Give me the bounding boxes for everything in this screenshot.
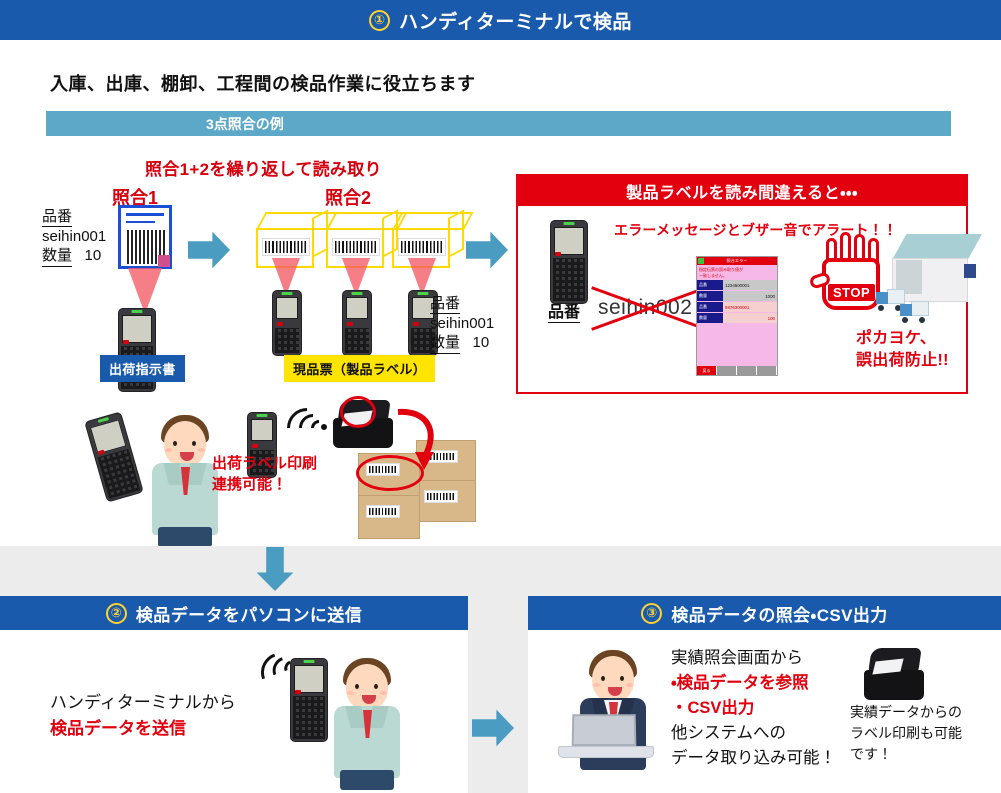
error-hinban-label: 品番 <box>548 298 580 323</box>
section3-text-line3: ・CSV出力 <box>671 696 836 721</box>
person-eye <box>620 676 624 681</box>
error-screen-message-line2: 一致しません。 <box>699 273 775 279</box>
chip-product-label: 現品票（製品ラベル） <box>284 355 435 382</box>
person-cheek <box>593 683 600 687</box>
section3-panel: ③ 検品データの照会・CSV出力 実績照会画面から ・検品データを参照 ・CSV… <box>528 596 1001 793</box>
laptop-screen <box>572 714 637 746</box>
section3-note-line3: です！ <box>850 744 962 765</box>
spec-left-hinban-label: 品番 <box>42 207 72 227</box>
spec-left: 品番 seihin001 数量 10 <box>42 207 106 267</box>
red-arrow-icon <box>390 408 446 480</box>
error-row-value: 9876300001 <box>723 302 777 312</box>
doc-line <box>126 221 155 224</box>
truck-cab <box>900 304 912 316</box>
error-row-label: 数量 <box>697 291 723 301</box>
lead-text: 入庫、出庫、棚卸、工程間の検品作業に役立ちます <box>50 70 476 96</box>
person-cheek <box>626 683 633 687</box>
step-number-1: ① <box>369 10 390 31</box>
person-eye <box>173 441 177 446</box>
person-cheek <box>380 691 387 695</box>
box-side <box>448 209 464 258</box>
section3-text-line4: 他システムへの <box>671 721 836 746</box>
error-screen-message: 指定伝票の読み取り値が 一致しません。 <box>697 265 777 279</box>
person-eye <box>374 684 378 689</box>
spec-right-hinban-value: seihin001 <box>430 314 494 333</box>
poka-yoke-caption: ポカヨケ、 誤出荷防止!! <box>856 328 949 371</box>
wireless-signal-icon <box>283 405 329 445</box>
truck-wheel <box>902 317 908 323</box>
device-screen <box>251 419 273 441</box>
section3-text: 実績照会画面から ・検品データを参照 ・CSV出力 他システムへの データ取り込… <box>671 646 836 771</box>
spec-right: 品番 seihin001 数量 10 <box>430 294 494 354</box>
barcode-icon <box>398 238 446 256</box>
section3-text-line5: データ取り込み可能！ <box>671 746 836 771</box>
error-screen-title: 照合エラー <box>697 257 777 265</box>
office-worker-illustration <box>568 640 658 780</box>
poka-line1: ポカヨケ、 <box>856 328 949 350</box>
person-cheek <box>165 448 172 452</box>
warehouse-icon <box>870 234 982 318</box>
truck-wheel <box>878 305 884 311</box>
person-cheek <box>347 691 354 695</box>
device-led-icon <box>257 414 268 417</box>
error-row-label: 品番 <box>697 280 723 290</box>
laptop-base <box>558 746 654 758</box>
person-pants <box>340 770 394 790</box>
error-row-value: 100 <box>723 313 777 323</box>
barcode-icon <box>332 238 380 256</box>
error-screen-fn-slot <box>737 366 757 375</box>
error-screen-fn-slot <box>757 366 777 375</box>
error-screen-row: 品番 1234500001 <box>697 280 777 290</box>
section3-text-line2: ・検品データを参照 <box>671 671 836 696</box>
error-row-label: 品番 <box>697 302 723 312</box>
error-panel: 製品ラベルを読み間違えると・・・ エラーメッセージとブザー音でアラート！！ 品番… <box>516 174 968 394</box>
section2-title: 検品データをパソコンに送信 <box>136 601 362 626</box>
section2-text-line1: ハンディターミナルから <box>50 690 236 716</box>
wifi-dot <box>321 424 327 430</box>
carton <box>416 480 476 522</box>
handy-terminal-device <box>84 411 144 502</box>
error-screen-fn-slot <box>717 366 737 375</box>
section2-text-line2: 検品データを送信 <box>50 716 236 742</box>
error-panel-title: 製品ラベルを読み間違えると・・・ <box>518 176 966 206</box>
match2-label: 照合2 <box>325 184 371 210</box>
error-screen-row: 数量 1000 <box>697 291 777 301</box>
person-cheek <box>198 448 205 452</box>
person-eye <box>192 441 196 446</box>
section2-text: ハンディターミナルから 検品データを送信 <box>50 690 236 743</box>
label-print-caption: 出荷ラベル印刷 連携可能！ <box>212 453 317 495</box>
section1-title: ハンディターミナルで検品 <box>399 7 632 34</box>
device-led-icon <box>352 292 363 295</box>
error-screen-footer: 戻る <box>697 366 777 375</box>
step-number-3: ③ <box>641 603 662 624</box>
section3-text-line1: 実績照会画面から <box>671 646 836 671</box>
stop-label: STOP <box>828 284 875 301</box>
label-print-caption-line2: 連携可能！ <box>212 474 317 495</box>
section3-note-line2: ラベル印刷も可能 <box>850 723 962 744</box>
person-eye <box>355 684 359 689</box>
error-row-value: 1000 <box>723 291 777 301</box>
device-red-button-icon <box>252 444 258 448</box>
warehouse-roof <box>892 234 982 260</box>
error-screen-row: 品番 9876300001 <box>697 302 777 312</box>
device-screen <box>294 665 324 693</box>
device-keypad <box>553 258 585 301</box>
device-screen <box>346 297 368 319</box>
arrow-right-icon <box>466 230 508 270</box>
device-screen <box>554 227 584 255</box>
device-red-button-icon <box>555 252 561 256</box>
shipping-order-document <box>118 205 172 269</box>
device-red-button-icon <box>347 322 353 326</box>
device-keypad <box>293 696 325 739</box>
subtitle-bar-label: 3点照合の例 <box>206 114 284 134</box>
warehouse-window <box>964 264 976 278</box>
section3-note: 実績データからの ラベル印刷も可能 です！ <box>850 702 962 765</box>
chip-shipping-order: 出荷指示書 <box>100 355 185 382</box>
worker-illustration <box>322 648 412 788</box>
device-keypad <box>345 328 369 353</box>
handy-terminal-device <box>272 290 302 356</box>
spec-left-suryo-value: 10 <box>85 247 102 264</box>
carton <box>358 495 420 539</box>
device-keypad <box>275 328 299 353</box>
barcode-icon <box>262 238 310 256</box>
doc-line <box>126 213 164 216</box>
section3-title: 検品データの照会・CSV出力 <box>671 601 887 626</box>
error-hinban-label-text: 品番 <box>548 298 580 323</box>
section3-header: ③ 検品データの照会・CSV出力 <box>528 596 1001 630</box>
truck-cab <box>876 292 888 304</box>
device-led-icon <box>304 660 315 663</box>
device-red-button-icon <box>413 322 419 326</box>
error-row-label: 数量 <box>697 313 723 323</box>
section2-header: ② 検品データをパソコンに送信 <box>0 596 468 630</box>
highlight-ellipse <box>340 396 376 428</box>
device-red-button-icon <box>277 322 283 326</box>
section3-note-line1: 実績データからの <box>850 702 962 723</box>
cross-out-icon <box>588 284 710 330</box>
spec-right-hinban-label: 品番 <box>430 294 460 314</box>
handy-terminal-device <box>550 220 588 304</box>
printer-base <box>864 670 924 700</box>
arrow-right-icon <box>188 230 230 270</box>
truck-wheel <box>919 317 925 323</box>
error-screen-back-button[interactable]: 戻る <box>697 366 717 375</box>
label-print-caption-line1: 出荷ラベル印刷 <box>212 453 317 474</box>
terminal-error-screen: 照合エラー 指定伝票の読み取り値が 一致しません。 品番 1234500001 … <box>696 256 778 376</box>
spec-right-suryo-label: 数量 <box>430 333 460 353</box>
person-pants <box>158 527 212 547</box>
spec-left-suryo-label: 数量 <box>42 246 72 266</box>
truck-bed <box>911 301 929 316</box>
truck-icon <box>900 300 930 320</box>
device-red-button-icon <box>295 690 301 694</box>
spec-left-hinban-value: seihin001 <box>42 227 106 246</box>
poka-line2: 誤出荷防止!! <box>856 350 949 372</box>
device-led-icon <box>282 292 293 295</box>
device-red-button-icon <box>123 340 129 344</box>
device-led-icon <box>418 292 429 295</box>
label-printer-icon <box>864 648 930 700</box>
device-screen <box>122 315 152 343</box>
laptop-icon <box>558 714 654 758</box>
carton-barcode-label <box>424 490 458 503</box>
device-led-icon <box>564 222 575 225</box>
error-row-value: 1234500001 <box>723 280 777 290</box>
device-screen <box>276 297 298 319</box>
doc-fold-corner <box>158 255 170 267</box>
repeat-caption: 照合1+2を繰り返して読み取り <box>145 155 382 180</box>
infographic-page: ① ハンディターミナルで検品 入庫、出庫、棚卸、工程間の検品作業に役立ちます 3… <box>0 0 1001 793</box>
error-screen-row: 数量 100 <box>697 313 777 323</box>
handy-terminal-device <box>342 290 372 356</box>
person-eye <box>601 676 605 681</box>
section2-panel: ② 検品データをパソコンに送信 ハンディターミナルから 検品データを送信 <box>0 596 468 793</box>
section1-header: ① ハンディターミナルで検品 <box>0 0 1001 40</box>
spec-right-suryo-value: 10 <box>473 334 490 351</box>
step-number-2: ② <box>106 603 127 624</box>
carton-barcode-label <box>366 505 400 518</box>
device-led-icon <box>132 310 143 313</box>
subtitle-bar: 3点照合の例 <box>46 111 951 136</box>
